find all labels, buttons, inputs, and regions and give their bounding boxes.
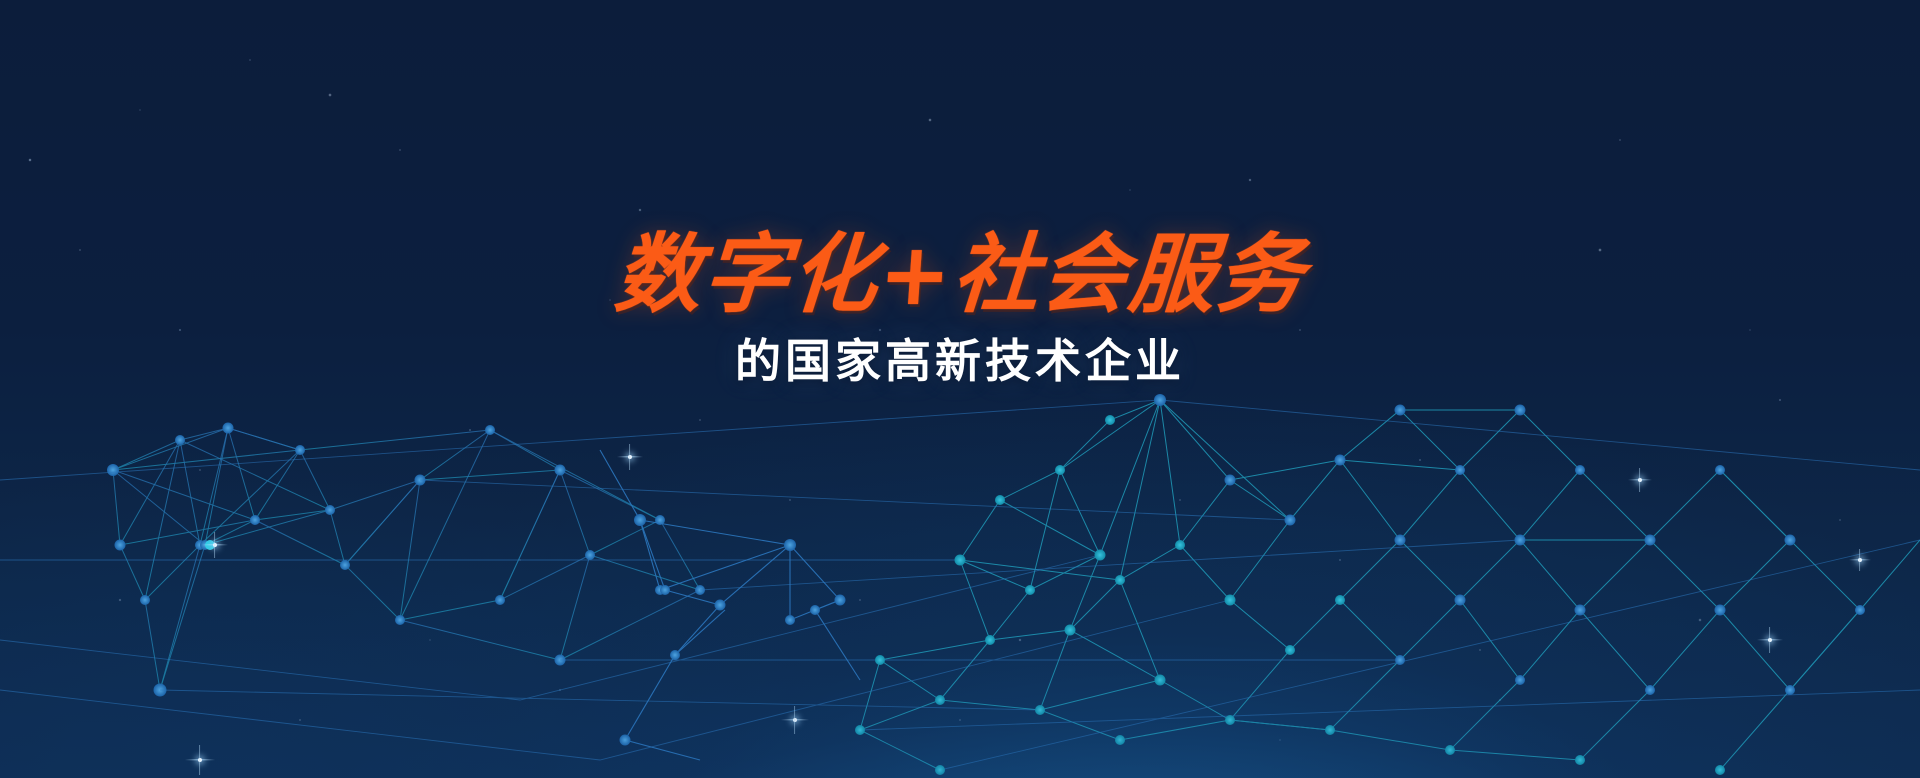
hero-banner: 数字化+社会服务 的国家高新技术企业 xyxy=(0,0,1920,778)
page-title: 数字化+社会服务 xyxy=(0,232,1920,318)
page-subtitle: 的国家高新技术企业 xyxy=(0,334,1920,389)
hero-text-block: 数字化+社会服务 的国家高新技术企业 xyxy=(0,232,1920,389)
